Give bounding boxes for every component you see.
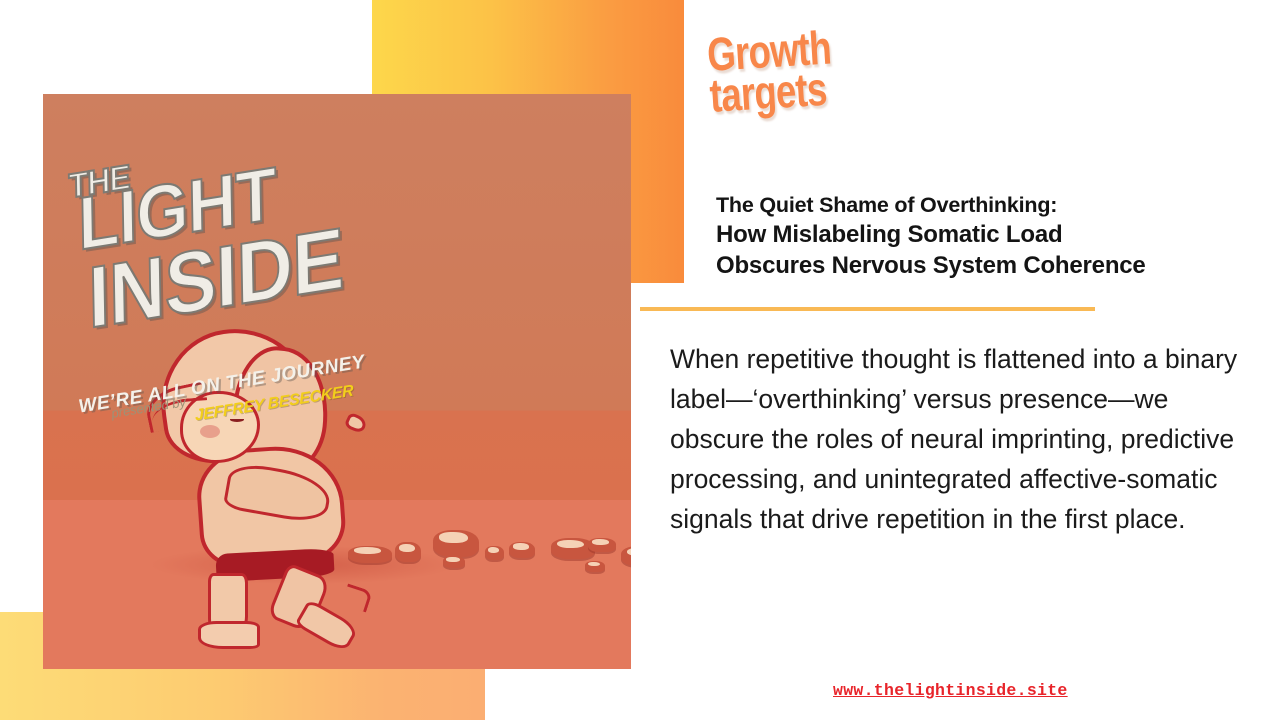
rock-fragment (433, 530, 479, 557)
slide-title: The Quiet Shame of Overthinking: How Mis… (716, 192, 1261, 282)
rock-fragment (509, 542, 535, 558)
kicker-heading: Growth targets (706, 26, 834, 116)
website-link[interactable]: www.thelightinside.site (833, 681, 1068, 700)
figure-chip-fragment-icon (344, 412, 369, 435)
rock-fragment (443, 556, 465, 568)
rock-fragment (588, 538, 616, 552)
rock-fragment (485, 546, 504, 560)
title-divider (640, 307, 1095, 311)
figure-cheek-icon (200, 425, 220, 438)
slide-title-line-3: Obscures Nervous System Coherence (716, 250, 1261, 281)
body-paragraph: When repetitive thought is flattened int… (670, 339, 1255, 539)
figure-back-boot-icon (198, 621, 260, 649)
slide-title-line-2: How Mislabeling Somatic Load (716, 219, 1261, 250)
slide-title-line-1: The Quiet Shame of Overthinking: (716, 192, 1261, 219)
rock-fragment (395, 542, 421, 562)
rock-fragment (348, 546, 392, 563)
rock-fragment (585, 561, 605, 572)
podcast-cover-image: THE LIGHT INSIDE WE’RE ALL ON THE JOURNE… (43, 94, 631, 669)
podcast-logo: THE LIGHT INSIDE WE’RE ALL ON THE JOURNE… (63, 152, 333, 382)
